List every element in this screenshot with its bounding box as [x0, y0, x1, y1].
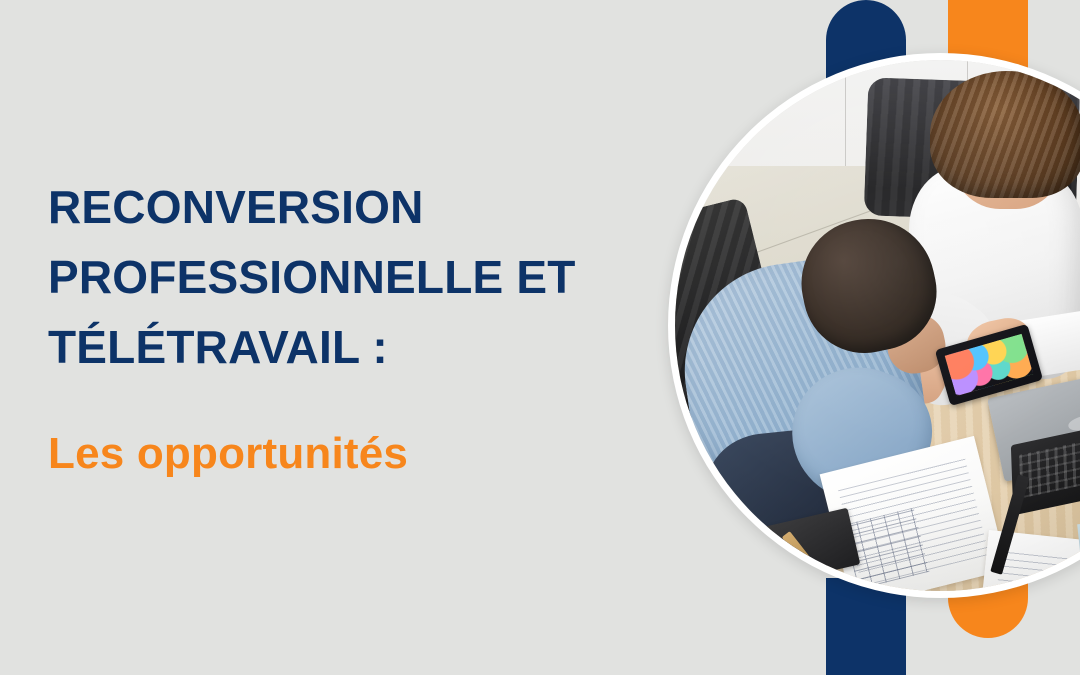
promo-banner: RECONVERSION PROFESSIONNELLE ET TÉLÉTRAV… [0, 0, 1080, 675]
page-title: RECONVERSION PROFESSIONNELLE ET TÉLÉTRAV… [48, 172, 668, 382]
banner-text-block: RECONVERSION PROFESSIONNELLE ET TÉLÉTRAV… [48, 172, 668, 480]
person-white-tshirt-hair [930, 71, 1080, 198]
page-subtitle: Les opportunités [48, 428, 668, 480]
circular-photo-frame [668, 53, 1080, 598]
office-teamwork-photo [675, 60, 1080, 591]
circular-photo [675, 60, 1080, 591]
laptop-logo-icon [1067, 413, 1080, 433]
